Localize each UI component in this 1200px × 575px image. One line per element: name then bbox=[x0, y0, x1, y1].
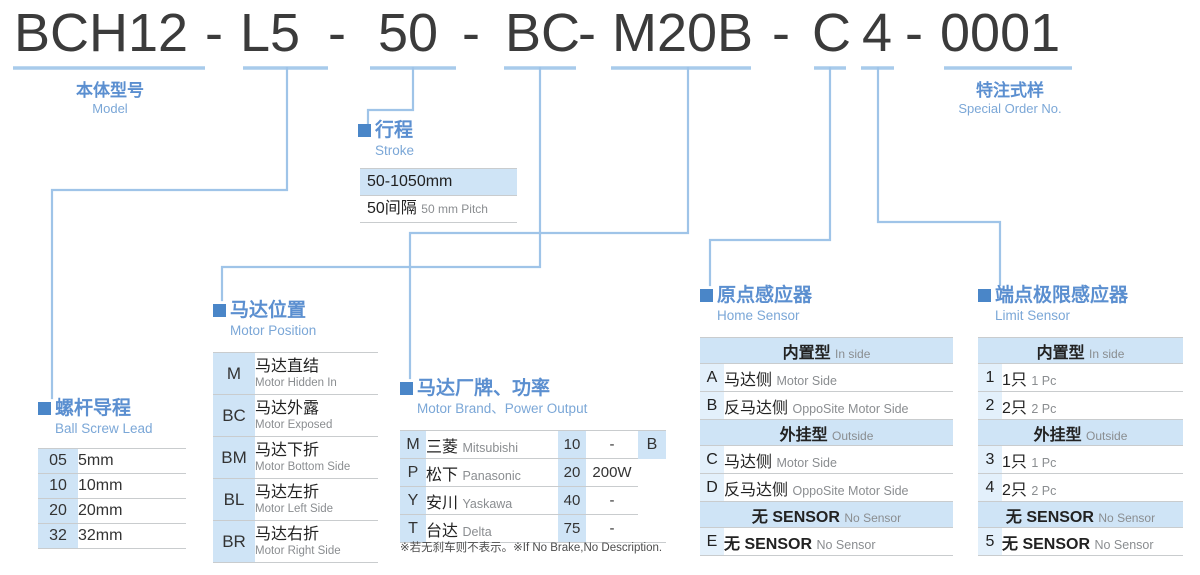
home-code-2: B bbox=[700, 392, 724, 420]
home-value-1: 马达侧 Motor Side bbox=[724, 364, 953, 392]
code-segment-motor-pos: BC bbox=[505, 4, 580, 62]
home-en-4: Motor Side bbox=[776, 456, 836, 470]
table-row: 1 1只 1 Pc bbox=[978, 364, 1183, 392]
section-ball-screw-lead-header: 螺杆导程 Ball Screw Lead bbox=[38, 398, 153, 437]
limit-band-0: 内置型 In side bbox=[978, 338, 1183, 364]
table-row: M 马达直结 Motor Hidden In bbox=[213, 353, 378, 395]
ball-screw-lead-table: 05 5mm 10 10mm 20 20mm 32 32mm bbox=[38, 448, 186, 549]
home-value-5: 反马达侧 OppoSite Motor Side bbox=[724, 474, 953, 502]
home-value-4: 马达侧 Motor Side bbox=[724, 446, 953, 474]
stroke-table: 50-1050mm 50间隔 50 mm Pitch bbox=[360, 168, 517, 223]
table-row: D 反马达侧 OppoSite Motor Side bbox=[700, 474, 953, 502]
section-ball-screw-lead-title-cn: 螺杆导程 bbox=[38, 398, 153, 420]
motor-brand-title-cn-text: 马达厂牌、功率 bbox=[417, 378, 550, 399]
brand-code-1: P bbox=[400, 459, 426, 487]
table-row: 2 2只 2 Pc bbox=[978, 392, 1183, 420]
brand-kw-1: 20 bbox=[558, 459, 586, 487]
home-code-1: A bbox=[700, 364, 724, 392]
table-row: 无 SENSOR No Sensor bbox=[978, 502, 1183, 528]
table-row: 20 20mm bbox=[38, 499, 186, 524]
table-row: 4 2只 2 Pc bbox=[978, 474, 1183, 502]
marker-square-icon bbox=[700, 289, 713, 302]
lead-value-0: 5mm bbox=[78, 449, 186, 474]
motor-pos-code-2: BM bbox=[213, 437, 255, 479]
limit-cn-4: 1只 bbox=[1002, 454, 1027, 471]
limit-band-cn-3: 外挂型 bbox=[1034, 427, 1082, 444]
table-row: 内置型 In side bbox=[700, 338, 953, 364]
section-motor-brand-title-en: Motor Brand、Power Output bbox=[400, 400, 587, 417]
table-row: 3 1只 1 Pc bbox=[978, 446, 1183, 474]
table-row: Y 安川 Yaskawa 40 - bbox=[400, 487, 666, 515]
motor-brand-table: M 三菱 Mitsubishi 10 - B P 松下 Panasonic 20… bbox=[400, 430, 666, 543]
motor-pos-cn-1: 马达外露 bbox=[255, 400, 378, 418]
section-stroke-title-cn: 行程 bbox=[358, 120, 414, 142]
stroke-pitch-row: 50间隔 50 mm Pitch bbox=[360, 196, 517, 223]
limit-band-cn-6: 无 SENSOR bbox=[1006, 509, 1094, 526]
section-motor-brand-header: 马达厂牌、功率 Motor Brand、Power Output bbox=[400, 378, 587, 417]
brand-kw-2: 40 bbox=[558, 487, 586, 515]
motor-brand-note: ※若无刹车则不表示。※If No Brake,No Description. bbox=[400, 541, 690, 555]
brand-name-2: 安川 Yaskawa bbox=[426, 487, 558, 515]
code-dash-5: - bbox=[772, 4, 790, 62]
marker-square-icon bbox=[213, 304, 226, 317]
limit-code-5: 4 bbox=[978, 474, 1002, 502]
home-band-cn-3: 外挂型 bbox=[780, 427, 828, 444]
brand-brake-3 bbox=[638, 515, 666, 543]
table-row: BR 马达右折 Motor Right Side bbox=[213, 521, 378, 563]
limit-value-7: 无 SENSOR No Sensor bbox=[1002, 528, 1183, 556]
motor-pos-code-3: BL bbox=[213, 479, 255, 521]
code-segment-lead: L5 bbox=[240, 4, 300, 62]
table-row: E 无 SENSOR No Sensor bbox=[700, 528, 953, 556]
table-row: C 马达侧 Motor Side bbox=[700, 446, 953, 474]
motor-pos-code-4: BR bbox=[213, 521, 255, 563]
brand-cn-1: 松下 bbox=[426, 467, 458, 484]
motor-pos-value-1: 马达外露 Motor Exposed bbox=[255, 395, 378, 437]
brand-brake-1 bbox=[638, 459, 666, 487]
limit-code-1: 1 bbox=[978, 364, 1002, 392]
brand-brake-2 bbox=[638, 487, 666, 515]
section-model-title-cn: 本体型号 bbox=[30, 80, 190, 101]
table-row: A 马达侧 Motor Side bbox=[700, 364, 953, 392]
marker-square-icon bbox=[38, 402, 51, 415]
section-special-order-title-en: Special Order No. bbox=[930, 101, 1090, 117]
limit-band-6: 无 SENSOR No Sensor bbox=[978, 502, 1183, 528]
home-band-en-6: No Sensor bbox=[844, 511, 901, 525]
home-cn-7: 无 SENSOR bbox=[724, 536, 812, 553]
brand-power-1: 200W bbox=[586, 459, 638, 487]
section-home-sensor-header: 原点感应器 Home Sensor bbox=[700, 285, 812, 324]
product-code: BCH12 - L5 - 50 - BC - M20B - C 4 - 0001 bbox=[0, 4, 1200, 62]
marker-square-icon bbox=[978, 289, 991, 302]
home-cn-2: 反马达侧 bbox=[724, 400, 788, 417]
home-band-0: 内置型 In side bbox=[700, 338, 953, 364]
stroke-title-cn-text: 行程 bbox=[375, 120, 413, 141]
home-en-5: OppoSite Motor Side bbox=[792, 484, 908, 498]
brand-cn-2: 安川 bbox=[426, 495, 458, 512]
section-stroke-header: 行程 Stroke bbox=[358, 120, 414, 159]
brand-en-0: Mitsubishi bbox=[462, 441, 518, 455]
brand-power-0: - bbox=[586, 431, 638, 459]
motor-pos-cn-2: 马达下折 bbox=[255, 442, 378, 460]
lead-code-3: 32 bbox=[38, 524, 78, 549]
limit-cn-5: 2只 bbox=[1002, 482, 1027, 499]
table-row: 10 10mm bbox=[38, 474, 186, 499]
table-row: T 台达 Delta 75 - bbox=[400, 515, 666, 543]
motor-pos-value-4: 马达右折 Motor Right Side bbox=[255, 521, 378, 563]
brand-power-2: - bbox=[586, 487, 638, 515]
table-row: 5 无 SENSOR No Sensor bbox=[978, 528, 1183, 556]
limit-band-3: 外挂型 Outside bbox=[978, 420, 1183, 446]
limit-en-4: 1 Pc bbox=[1031, 456, 1056, 470]
motor-pos-en-3: Motor Left Side bbox=[255, 502, 378, 516]
motor-pos-value-0: 马达直结 Motor Hidden In bbox=[255, 353, 378, 395]
motor-pos-en-2: Motor Bottom Side bbox=[255, 460, 378, 474]
motor-pos-en-0: Motor Hidden In bbox=[255, 376, 378, 390]
brand-cn-0: 三菱 bbox=[426, 439, 458, 456]
section-home-sensor-title-en: Home Sensor bbox=[700, 307, 812, 324]
lead-value-2: 20mm bbox=[78, 499, 186, 524]
code-segment-home-sensor: C bbox=[812, 4, 851, 62]
code-segment-limit-sensor: 4 bbox=[862, 4, 892, 62]
brand-en-1: Panasonic bbox=[462, 469, 520, 483]
brand-name-1: 松下 Panasonic bbox=[426, 459, 558, 487]
stroke-range-row: 50-1050mm bbox=[360, 168, 517, 196]
limit-en-1: 1 Pc bbox=[1031, 374, 1056, 388]
home-sensor-title-cn-text: 原点感应器 bbox=[717, 285, 812, 306]
code-dash-1: - bbox=[205, 4, 223, 62]
home-band-6: 无 SENSOR No Sensor bbox=[700, 502, 953, 528]
limit-en-2: 2 Pc bbox=[1031, 402, 1056, 416]
limit-cn-7: 无 SENSOR bbox=[1002, 536, 1090, 553]
section-special-order: 特注式样 Special Order No. bbox=[930, 80, 1090, 117]
table-row: 05 5mm bbox=[38, 449, 186, 474]
stroke-pitch-cn: 50间隔 bbox=[367, 200, 417, 217]
brand-code-3: T bbox=[400, 515, 426, 543]
limit-band-en-0: In side bbox=[1089, 347, 1124, 361]
section-special-order-title-cn: 特注式样 bbox=[930, 80, 1090, 101]
limit-value-5: 2只 2 Pc bbox=[1002, 474, 1183, 502]
limit-sensor-title-cn-text: 端点极限感应器 bbox=[995, 285, 1128, 306]
code-dash-2: - bbox=[328, 4, 346, 62]
section-model: 本体型号 Model bbox=[30, 80, 190, 117]
table-row: BC 马达外露 Motor Exposed bbox=[213, 395, 378, 437]
brand-name-3: 台达 Delta bbox=[426, 515, 558, 543]
home-sensor-table: 内置型 In side A 马达侧 Motor Side B 反马达侧 Oppo… bbox=[700, 337, 953, 556]
home-code-4: C bbox=[700, 446, 724, 474]
table-row: M 三菱 Mitsubishi 10 - B bbox=[400, 431, 666, 459]
section-motor-position-title-en: Motor Position bbox=[213, 322, 316, 339]
brand-power-3: - bbox=[586, 515, 638, 543]
code-segment-motor-brand: M20B bbox=[612, 4, 753, 62]
motor-pos-cn-4: 马达右折 bbox=[255, 526, 378, 544]
section-motor-position-title-cn: 马达位置 bbox=[213, 300, 316, 322]
motor-pos-value-3: 马达左折 Motor Left Side bbox=[255, 479, 378, 521]
ball-screw-lead-title-cn-text: 螺杆导程 bbox=[55, 398, 131, 419]
limit-code-4: 3 bbox=[978, 446, 1002, 474]
limit-cn-2: 2只 bbox=[1002, 400, 1027, 417]
section-home-sensor-title-cn: 原点感应器 bbox=[700, 285, 812, 307]
brand-kw-3: 75 bbox=[558, 515, 586, 543]
marker-square-icon bbox=[400, 382, 413, 395]
code-segment-model: BCH12 bbox=[14, 4, 188, 62]
limit-band-en-3: Outside bbox=[1086, 429, 1127, 443]
home-cn-5: 反马达侧 bbox=[724, 482, 788, 499]
motor-pos-cn-0: 马达直结 bbox=[255, 358, 378, 376]
code-dash-3: - bbox=[462, 4, 480, 62]
home-value-7: 无 SENSOR No Sensor bbox=[724, 528, 953, 556]
section-ball-screw-lead-title-en: Ball Screw Lead bbox=[38, 420, 153, 437]
brand-en-3: Delta bbox=[462, 525, 491, 539]
home-en-1: Motor Side bbox=[776, 374, 836, 388]
limit-band-cn-0: 内置型 bbox=[1037, 345, 1085, 362]
brand-code-2: Y bbox=[400, 487, 426, 515]
motor-position-title-cn-text: 马达位置 bbox=[230, 300, 306, 321]
table-row: 无 SENSOR No Sensor bbox=[700, 502, 953, 528]
lead-code-2: 20 bbox=[38, 499, 78, 524]
code-dash-4: - bbox=[578, 4, 596, 62]
home-cn-4: 马达侧 bbox=[724, 454, 772, 471]
designation-diagram: BCH12 - L5 - 50 - BC - M20B - C 4 - 0001… bbox=[0, 0, 1200, 575]
limit-code-7: 5 bbox=[978, 528, 1002, 556]
section-motor-brand-title-cn: 马达厂牌、功率 bbox=[400, 378, 587, 400]
lead-code-0: 05 bbox=[38, 449, 78, 474]
home-band-3: 外挂型 Outside bbox=[700, 420, 953, 446]
table-row: BM 马达下折 Motor Bottom Side bbox=[213, 437, 378, 479]
brand-brake-0: B bbox=[638, 431, 666, 459]
limit-en-7: No Sensor bbox=[1094, 538, 1153, 552]
limit-value-4: 1只 1 Pc bbox=[1002, 446, 1183, 474]
home-en-7: No Sensor bbox=[816, 538, 875, 552]
home-cn-1: 马达侧 bbox=[724, 372, 772, 389]
motor-pos-en-4: Motor Right Side bbox=[255, 544, 378, 558]
section-limit-sensor-header: 端点极限感应器 Limit Sensor bbox=[978, 285, 1128, 324]
section-motor-position-header: 马达位置 Motor Position bbox=[213, 300, 316, 339]
limit-value-2: 2只 2 Pc bbox=[1002, 392, 1183, 420]
home-band-en-3: Outside bbox=[832, 429, 873, 443]
brand-cn-3: 台达 bbox=[426, 523, 458, 540]
lead-value-3: 32mm bbox=[78, 524, 186, 549]
limit-code-2: 2 bbox=[978, 392, 1002, 420]
section-stroke-title-en: Stroke bbox=[358, 142, 414, 159]
lead-code-1: 10 bbox=[38, 474, 78, 499]
brand-name-0: 三菱 Mitsubishi bbox=[426, 431, 558, 459]
code-segment-stroke: 50 bbox=[378, 4, 438, 62]
table-row: BL 马达左折 Motor Left Side bbox=[213, 479, 378, 521]
table-row: 外挂型 Outside bbox=[978, 420, 1183, 446]
section-limit-sensor-title-cn: 端点极限感应器 bbox=[978, 285, 1128, 307]
motor-pos-en-1: Motor Exposed bbox=[255, 418, 378, 432]
lead-value-1: 10mm bbox=[78, 474, 186, 499]
marker-square-icon bbox=[358, 124, 371, 137]
motor-pos-code-1: BC bbox=[213, 395, 255, 437]
limit-value-1: 1只 1 Pc bbox=[1002, 364, 1183, 392]
home-en-2: OppoSite Motor Side bbox=[792, 402, 908, 416]
motor-pos-cn-3: 马达左折 bbox=[255, 484, 378, 502]
home-band-en-0: In side bbox=[835, 347, 870, 361]
section-model-title-en: Model bbox=[30, 101, 190, 117]
brand-en-2: Yaskawa bbox=[462, 497, 512, 511]
motor-position-table: M 马达直结 Motor Hidden In BC 马达外露 Motor Exp… bbox=[213, 352, 378, 563]
table-row: P 松下 Panasonic 20 200W bbox=[400, 459, 666, 487]
home-value-2: 反马达侧 OppoSite Motor Side bbox=[724, 392, 953, 420]
motor-pos-code-0: M bbox=[213, 353, 255, 395]
table-row: 外挂型 Outside bbox=[700, 420, 953, 446]
code-dash-6: - bbox=[905, 4, 923, 62]
table-row: B 反马达侧 OppoSite Motor Side bbox=[700, 392, 953, 420]
home-band-cn-6: 无 SENSOR bbox=[752, 509, 840, 526]
limit-cn-1: 1只 bbox=[1002, 372, 1027, 389]
table-row: 内置型 In side bbox=[978, 338, 1183, 364]
brand-kw-0: 10 bbox=[558, 431, 586, 459]
brand-code-0: M bbox=[400, 431, 426, 459]
section-limit-sensor-title-en: Limit Sensor bbox=[978, 307, 1128, 324]
home-code-5: D bbox=[700, 474, 724, 502]
home-band-cn-0: 内置型 bbox=[783, 345, 831, 362]
motor-pos-value-2: 马达下折 Motor Bottom Side bbox=[255, 437, 378, 479]
table-row: 32 32mm bbox=[38, 524, 186, 549]
limit-en-5: 2 Pc bbox=[1031, 484, 1056, 498]
code-segment-special-order: 0001 bbox=[940, 4, 1060, 62]
home-code-7: E bbox=[700, 528, 724, 556]
stroke-pitch-en: 50 mm Pitch bbox=[421, 202, 488, 216]
limit-sensor-table: 内置型 In side 1 1只 1 Pc 2 2只 2 Pc bbox=[978, 337, 1183, 556]
limit-band-en-6: No Sensor bbox=[1098, 511, 1155, 525]
